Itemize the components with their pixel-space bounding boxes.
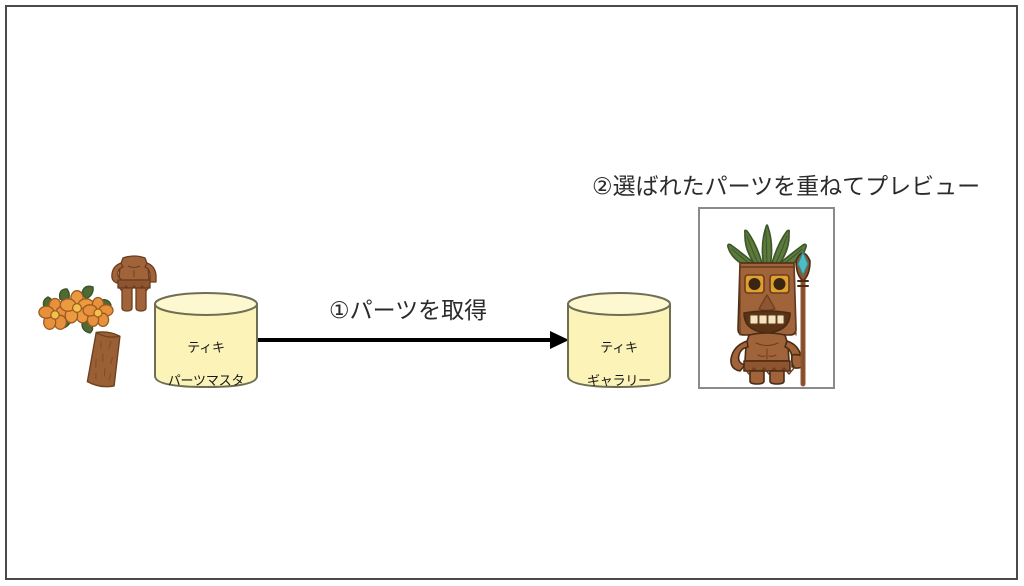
part-wood-log [78,328,130,396]
datastore-label-parts-master: ティキ パーツマスタ [152,324,260,407]
datastore-tiki-gallery[interactable]: ティキ ギャラリー [565,290,673,390]
preview-caption: ②選ばれたパーツを重ねてプレビュー [592,167,980,201]
datastore-tiki-parts-master[interactable]: ティキ パーツマスタ [152,290,260,390]
datastore-label-gallery: ティキ ギャラリー [565,324,673,407]
arrow-parts-to-gallery [258,328,570,356]
datastore-label-line1: ティキ [152,341,260,358]
arrow-label-step1: ①パーツを取得 [329,291,487,325]
datastore-label-line2: パーツマスタ [152,374,260,391]
diagram-canvas: ②選ばれたパーツを重ねてプレビュー [0,0,1024,586]
tiki-warrior-figure [700,209,833,387]
tiki-preview-frame[interactable] [698,207,835,389]
datastore-label-line1: ティキ [565,341,673,358]
datastore-label-line2: ギャラリー [565,374,673,391]
